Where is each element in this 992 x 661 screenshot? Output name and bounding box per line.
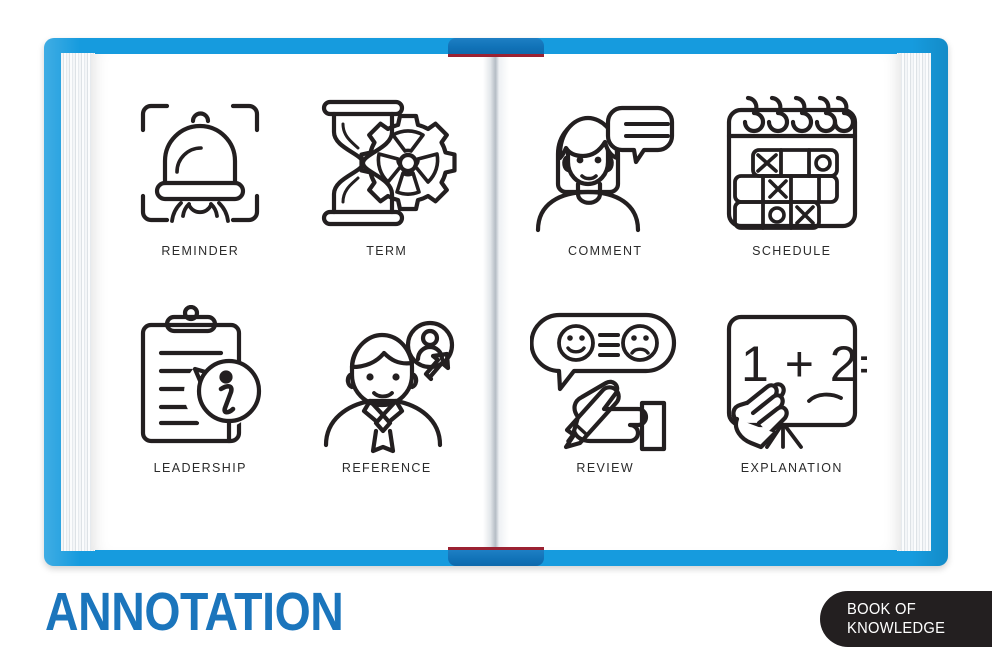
bell-scan-icon [125, 88, 275, 238]
icon-cell-schedule[interactable]: SCHEDULE [699, 88, 886, 305]
spine-top [448, 38, 544, 54]
icon-label-leadership: LEADERSHIP [154, 461, 247, 475]
businessman-profile-icon [312, 305, 462, 455]
icon-cell-review[interactable]: REVIEW [512, 305, 699, 522]
left-page-icon-grid: REMINDER [91, 54, 496, 550]
icon-cell-explanation[interactable]: 1 + 2=3 EXPLANATION [699, 305, 886, 522]
icon-label-review: REVIEW [576, 461, 634, 475]
icon-label-reminder: REMINDER [161, 244, 239, 258]
whiteboard-equation-icon: 1 + 2=3 [717, 305, 867, 455]
icon-cell-leadership[interactable]: LEADERSHIP [107, 305, 294, 522]
icon-label-reference: REFERENCE [342, 461, 432, 475]
open-book: REMINDER [44, 38, 948, 566]
badge-line-2: KNOWLEDGE [847, 619, 945, 638]
icon-label-explanation: EXPLANATION [741, 461, 843, 475]
icon-label-comment: COMMENT [568, 244, 642, 258]
icon-label-schedule: SCHEDULE [752, 244, 831, 258]
icon-cell-term[interactable]: TERM [294, 88, 481, 305]
svg-text:1 + 2=3: 1 + 2=3 [741, 336, 867, 392]
icon-cell-reference[interactable]: REFERENCE [294, 305, 481, 522]
page-title: ANNOTATION [45, 585, 343, 639]
calendar-grid-icon [717, 88, 867, 238]
poster-canvas: dreamstime [0, 0, 992, 661]
spine-bottom [448, 550, 544, 566]
hourglass-gear-icon [312, 88, 462, 238]
icon-cell-reminder[interactable]: REMINDER [107, 88, 294, 305]
icon-cell-comment[interactable]: COMMENT [512, 88, 699, 305]
clipboard-info-icon [125, 305, 275, 455]
book-of-knowledge-badge: BOOK OF KNOWLEDGE [820, 591, 992, 647]
left-page: REMINDER [91, 54, 496, 550]
woman-speech-bubble-icon [530, 88, 680, 238]
spine-top-accent [448, 54, 544, 57]
feedback-hand-pen-icon [530, 305, 680, 455]
right-page-icon-grid: COMMENT [496, 54, 901, 550]
spine-bottom-accent [448, 547, 544, 550]
icon-label-term: TERM [366, 244, 407, 258]
badge-line-1: BOOK OF [847, 600, 916, 619]
book-pages: REMINDER [91, 54, 901, 550]
right-page: COMMENT [496, 54, 901, 550]
